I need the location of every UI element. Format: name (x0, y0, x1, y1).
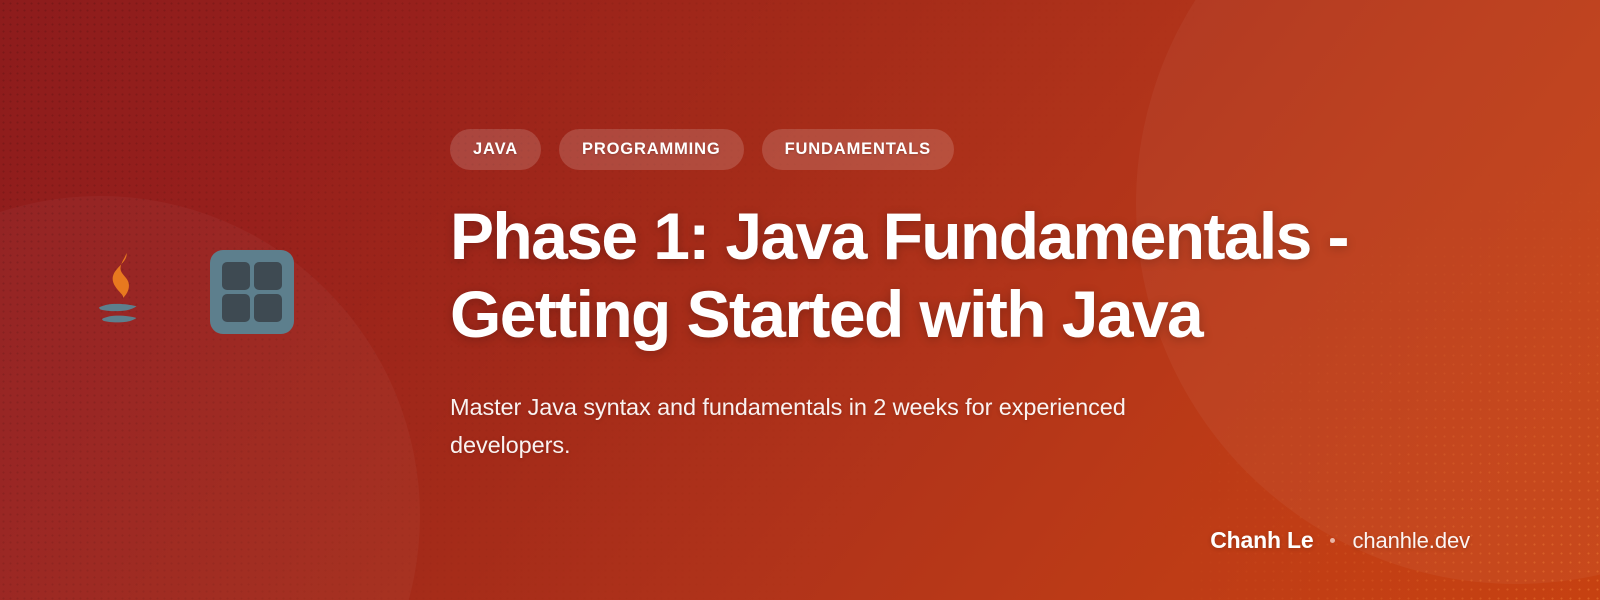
tag-list: JAVA PROGRAMMING FUNDAMENTALS (450, 129, 954, 170)
author-name: Chanh Le (1210, 527, 1313, 554)
tag-fundamentals[interactable]: FUNDAMENTALS (762, 129, 954, 170)
tag-java[interactable]: JAVA (450, 129, 541, 170)
article-hero-banner: JAVA PROGRAMMING FUNDAMENTALS Phase 1: J… (0, 0, 1600, 600)
grid-modules-icon (208, 248, 296, 336)
author-footer: Chanh Le chanhle.dev (1210, 527, 1470, 554)
page-title: Phase 1: Java Fundamentals - Getting Sta… (450, 198, 1350, 354)
site-url[interactable]: chanhle.dev (1352, 528, 1470, 554)
separator-dot-icon (1330, 538, 1335, 543)
page-subtitle: Master Java syntax and fundamentals in 2… (450, 388, 1240, 464)
hero-content: JAVA PROGRAMMING FUNDAMENTALS Phase 1: J… (450, 0, 1560, 600)
tag-programming[interactable]: PROGRAMMING (559, 129, 744, 170)
icon-cluster (88, 248, 296, 336)
java-logo-icon (88, 250, 150, 334)
